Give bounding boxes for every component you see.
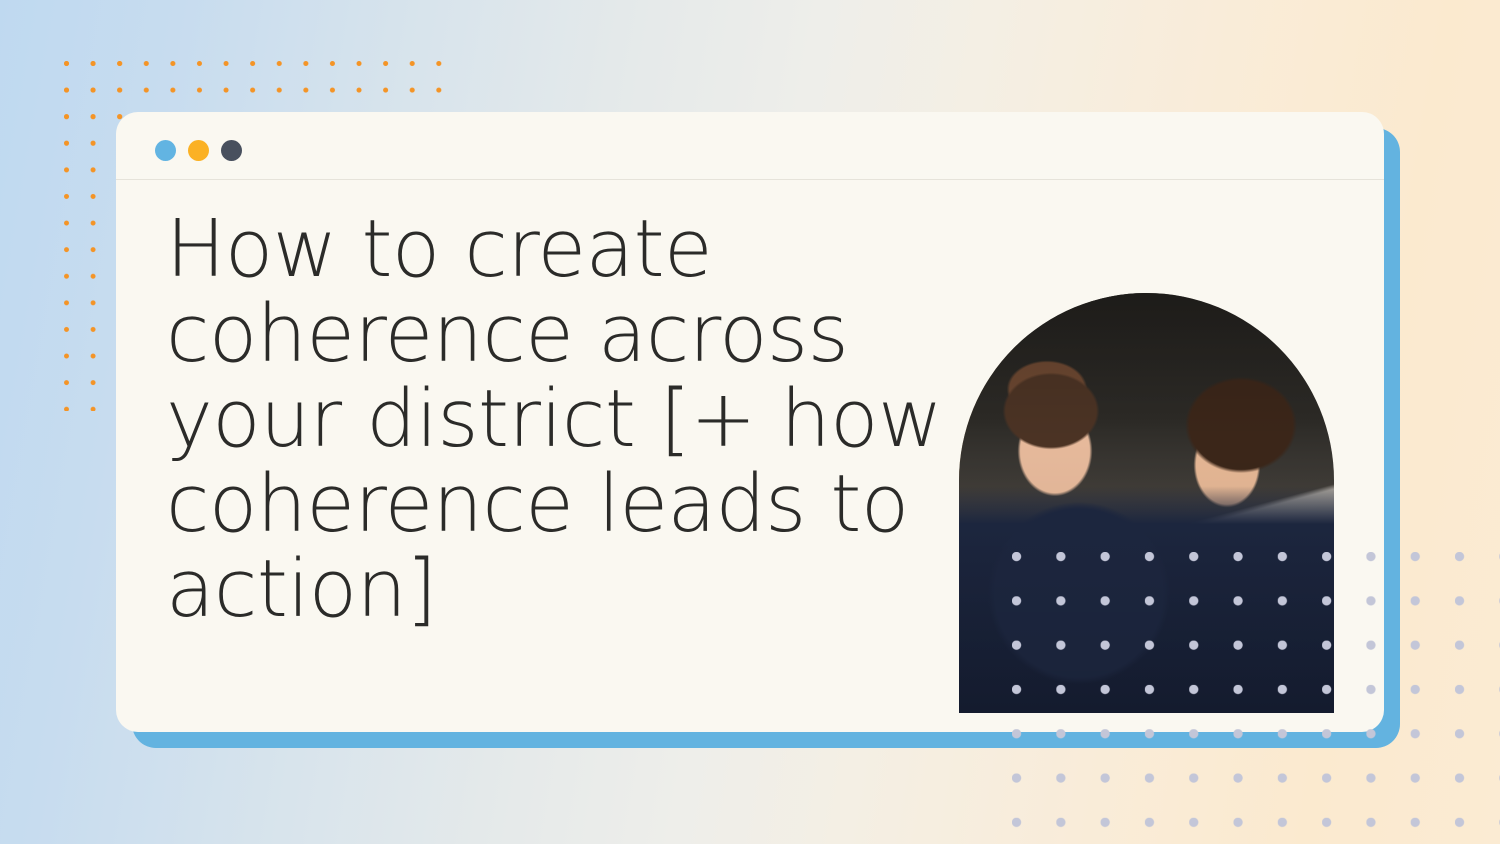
browser-window-card: How to create coherence across your dist…	[116, 112, 1384, 732]
window-control-dark-icon[interactable]	[221, 140, 242, 161]
browser-title-bar	[116, 112, 1384, 180]
window-control-yellow-icon[interactable]	[188, 140, 209, 161]
arch-photo: Two women sitting at a table working tog…	[959, 293, 1334, 713]
poster-canvas: How to create coherence across your dist…	[0, 0, 1500, 844]
window-control-blue-icon[interactable]	[155, 140, 176, 161]
window-controls	[155, 140, 242, 161]
headline-container: How to create coherence across your dist…	[166, 207, 956, 632]
browser-content-area: How to create coherence across your dist…	[116, 180, 1384, 731]
page-title: How to create coherence across your dist…	[166, 207, 956, 632]
arch-photo-overlay	[959, 293, 1334, 713]
